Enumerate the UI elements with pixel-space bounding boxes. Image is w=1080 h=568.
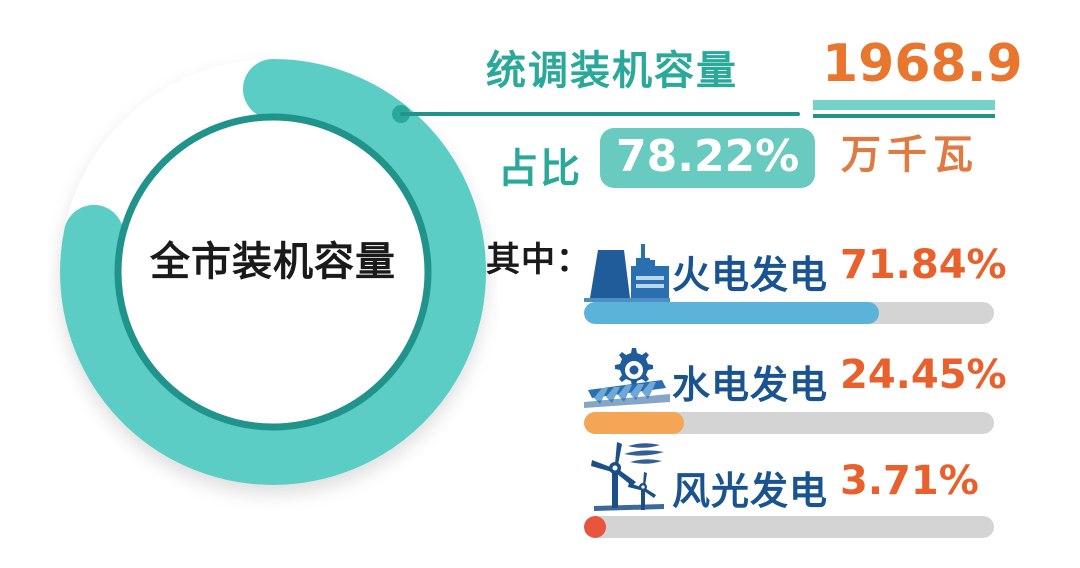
breakdown-row-wind: 风光发电 3.71%	[584, 440, 1004, 540]
bar-track-hydro	[584, 412, 994, 434]
bar-track-thermal	[584, 302, 994, 324]
right-panel: 统调装机容量 1968.9 占比 78.22% 万千瓦 其中：	[466, 0, 1080, 568]
row-pct-wind: 3.71%	[840, 458, 979, 504]
row-pct-thermal: 71.84%	[840, 242, 1007, 288]
bar-fill-thermal	[584, 302, 879, 324]
infographic-canvas: 全市装机容量 统调装机容量 1968.9 占比 78.22% 万千瓦 其中：	[0, 0, 1080, 568]
row-label-hydro: 水电发电	[672, 354, 828, 409]
breakdown-row-hydro: 水电发电 24.45%	[584, 340, 1004, 440]
bar-track-wind	[584, 516, 994, 538]
breakdown-row-thermal: 火电发电 71.84%	[584, 236, 1004, 336]
row-pct-hydro: 24.45%	[840, 352, 1007, 398]
bar-fill-wind	[584, 516, 606, 538]
wind-turbine-icon	[584, 438, 670, 512]
bar-fill-hydro	[584, 412, 684, 434]
donut-center-label: 全市装机容量	[48, 240, 498, 284]
donut-chart: 全市装机容量	[48, 22, 498, 522]
row-label-wind: 风光发电	[672, 460, 828, 515]
thermal-power-plant-icon	[584, 236, 670, 302]
row-label-thermal: 火电发电	[672, 244, 828, 299]
breakdown-rows: 火电发电 71.84%	[466, 0, 1080, 568]
hydro-dam-icon	[584, 344, 670, 410]
